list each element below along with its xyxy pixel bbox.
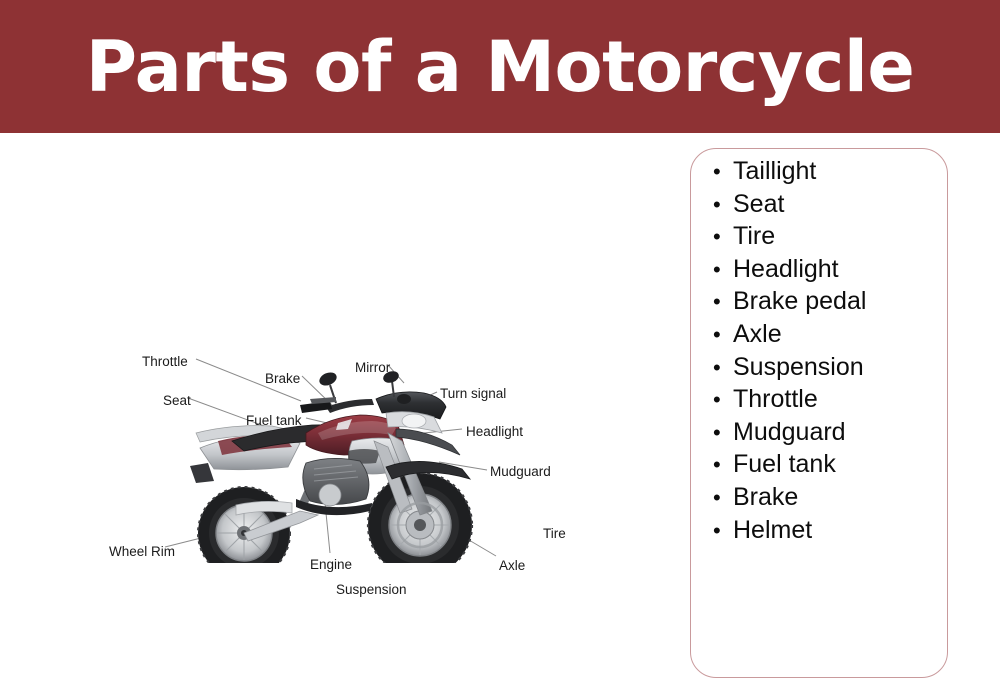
content-area: Throttle Seat Brake Fuel tank Mirror Tur…: [0, 133, 1000, 563]
diagram-label-tire: Tire: [543, 527, 566, 541]
list-item: •Fuel tank: [713, 448, 866, 481]
list-item-label: Mudguard: [733, 416, 846, 449]
list-item-label: Brake pedal: [733, 285, 866, 318]
list-item: •Mudguard: [713, 416, 866, 449]
list-item: •Axle: [713, 318, 866, 351]
diagram-label-turn-signal: Turn signal: [440, 387, 506, 401]
bullet-icon: •: [713, 417, 733, 450]
list-item: •Brake pedal: [713, 285, 866, 318]
list-item-label: Axle: [733, 318, 782, 351]
list-item: •Helmet: [713, 514, 866, 547]
list-item-label: Taillight: [733, 155, 816, 188]
bullet-icon: •: [713, 482, 733, 515]
bullet-icon: •: [713, 384, 733, 417]
brake-lever: [310, 397, 336, 404]
mirror-part: [317, 370, 338, 388]
list-item-label: Tire: [733, 220, 775, 253]
list-item: •Tire: [713, 220, 866, 253]
list-item-label: Brake: [733, 481, 798, 514]
list-item-label: Helmet: [733, 514, 812, 547]
diagram-label-engine: Engine: [310, 558, 352, 572]
motorcycle-illustration: [0, 133, 660, 563]
diagram-label-brake: Brake: [265, 372, 300, 386]
bullet-icon: •: [713, 189, 733, 222]
bullet-icon: •: [713, 254, 733, 287]
parts-list: •Taillight •Seat •Tire •Headlight •Brake…: [713, 155, 866, 546]
list-item-label: Headlight: [733, 253, 839, 286]
diagram-label-fuel-tank: Fuel tank: [246, 414, 302, 428]
engine-case: [319, 484, 341, 506]
list-item-label: Throttle: [733, 383, 818, 416]
bullet-icon: •: [713, 352, 733, 385]
list-item-label: Seat: [733, 188, 784, 221]
list-item: •Headlight: [713, 253, 866, 286]
taillight-area: [190, 463, 214, 483]
motorcycle-diagram: Throttle Seat Brake Fuel tank Mirror Tur…: [0, 133, 660, 563]
header-band: Parts of a Motorcycle: [0, 0, 1000, 133]
diagram-label-seat: Seat: [163, 394, 191, 408]
bullet-icon: •: [713, 515, 733, 548]
list-item: •Suspension: [713, 351, 866, 384]
bullet-icon: •: [713, 156, 733, 189]
diagram-label-axle: Axle: [499, 559, 525, 573]
page-title: Parts of a Motorcycle: [86, 32, 915, 102]
list-item-label: Suspension: [733, 351, 864, 384]
diagram-label-suspension: Suspension: [336, 583, 407, 597]
diagram-label-mudguard: Mudguard: [490, 465, 551, 479]
list-item-label: Fuel tank: [733, 448, 836, 481]
bullet-icon: •: [713, 286, 733, 319]
parts-list-card: •Taillight •Seat •Tire •Headlight •Brake…: [690, 148, 948, 678]
list-item: •Throttle: [713, 383, 866, 416]
diagram-label-headlight: Headlight: [466, 425, 523, 439]
diagram-label-throttle: Throttle: [142, 355, 188, 369]
list-item: •Brake: [713, 481, 866, 514]
list-item: •Seat: [713, 188, 866, 221]
list-item: •Taillight: [713, 155, 866, 188]
bullet-icon: •: [713, 319, 733, 352]
turn-signal-part: [397, 394, 411, 404]
diagram-label-wheel-rim: Wheel Rim: [109, 545, 175, 559]
bullet-icon: •: [713, 449, 733, 482]
headlight-lens: [402, 414, 426, 428]
diagram-label-mirror: Mirror: [355, 361, 390, 375]
bullet-icon: •: [713, 221, 733, 254]
